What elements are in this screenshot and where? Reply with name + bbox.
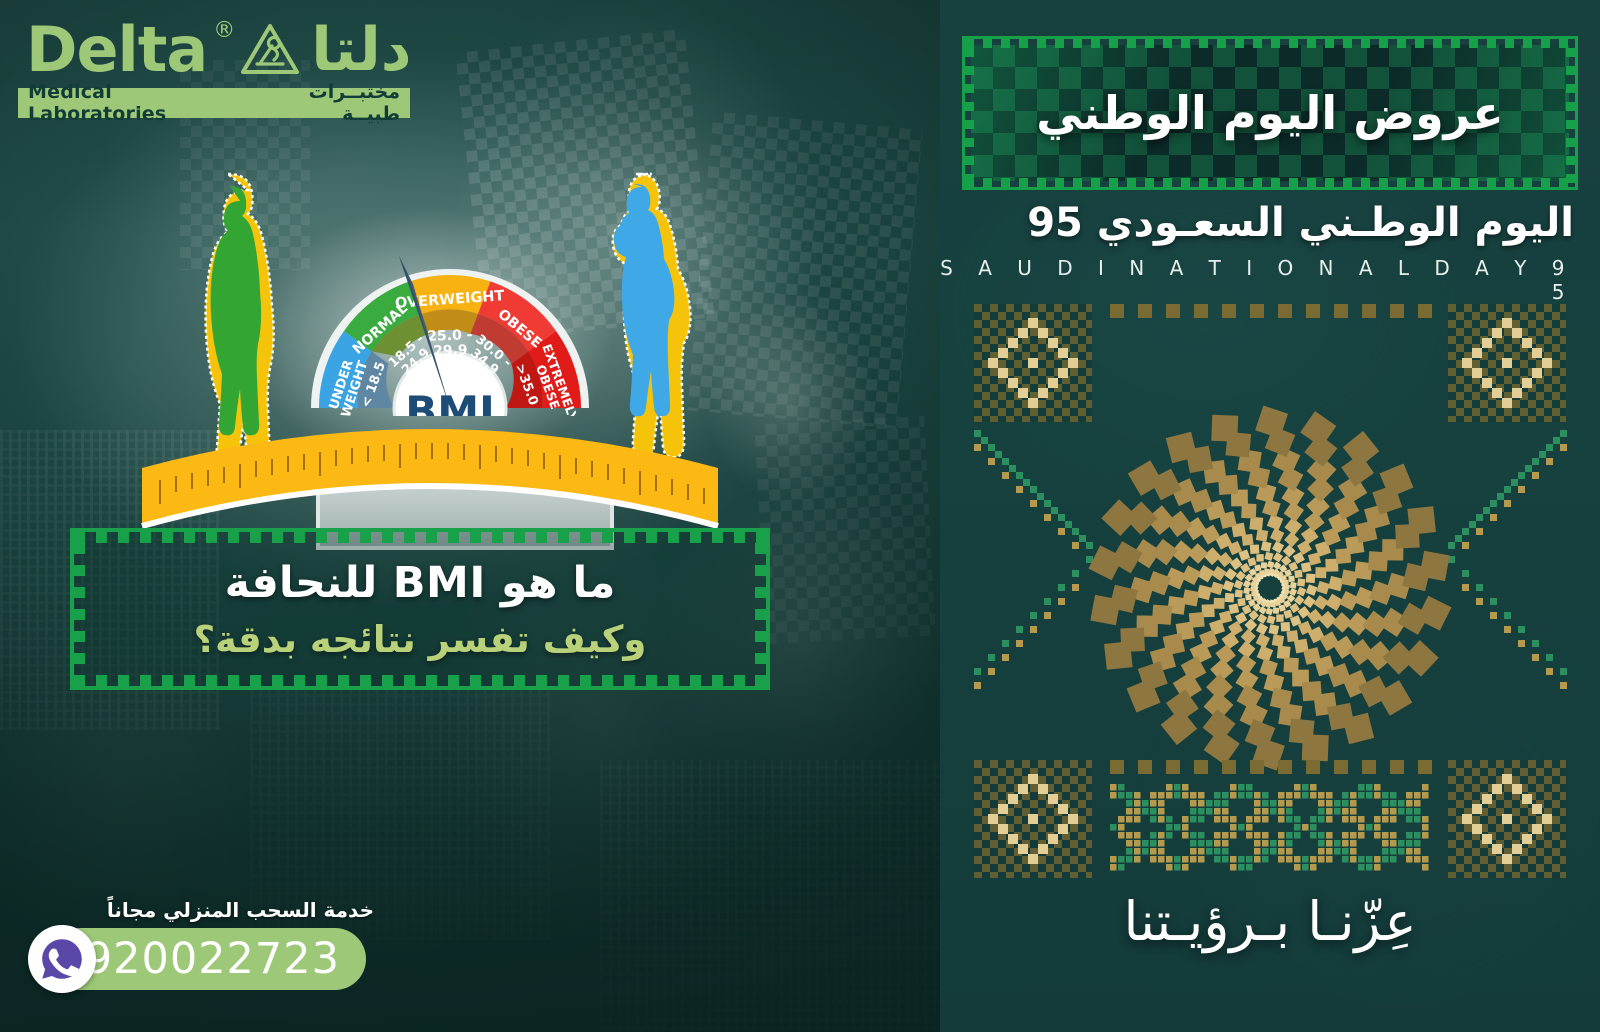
phone-pill[interactable]: 920022723 (50, 928, 366, 990)
headline-text: ما هو BMI للنحافة وكيف تفسر نتائجه بدقة؟ (86, 544, 754, 674)
whatsapp-icon[interactable] (28, 925, 96, 993)
sadu-bottom-lattice (1110, 784, 1429, 871)
headline-line-2: وكيف تفسر نتائجه بدقة؟ (194, 618, 647, 661)
logo-tagline-bar: Medical Laboratories مختبــرات طبيــة (18, 88, 410, 118)
bmi-illustration: UNDERWEIGHT NORMAL OVERWEIGHT OBESE EXTR… (110, 150, 750, 530)
measuring-tape-base (140, 408, 720, 530)
registered-mark-icon: ® (213, 18, 235, 43)
national-day-banner: عروض اليوم الوطني (962, 36, 1578, 190)
logo-wordmark-row: Delta ® دلتا (18, 14, 418, 86)
stamp-border-left (74, 532, 85, 686)
logo-tagline-en: Medical Laboratories (28, 81, 249, 125)
headline-block: ما هو BMI للنحافة وكيف تفسر نتائجه بدقة؟ (70, 528, 770, 690)
poster-canvas: Delta ® دلتا Medical Laboratories مختبــ… (0, 0, 1600, 1032)
headline-line-1: ما هو BMI للنحافة (225, 558, 616, 608)
national-day-subtitle-ar: اليوم الوطـني السعـودي 95 (940, 200, 1574, 246)
national-day-subtitle-en: S A U D I N A T I O N A L D A Y 9 5 (940, 256, 1574, 304)
logo-text-ar: دلتا (311, 20, 411, 80)
contact-block[interactable]: خدمة السحب المنزلي مجاناً 920022723 (28, 898, 388, 1013)
left-panel: Delta ® دلتا Medical Laboratories مختبــ… (0, 0, 940, 1032)
brand-logo[interactable]: Delta ® دلتا Medical Laboratories مختبــ… (18, 14, 418, 126)
microscope-triangle-icon (239, 22, 301, 78)
sadu-side-strip-left (974, 430, 1093, 689)
banner-title: عروض اليوم الوطني (962, 36, 1578, 190)
right-panel: عروض اليوم الوطني اليوم الوطـني السعـودي… (940, 0, 1600, 1032)
sadu-side-strip-right (1448, 430, 1567, 689)
logo-tagline-ar: مختبــرات طبيــة (249, 81, 400, 125)
gauge-center-label: BMI (405, 387, 494, 416)
golden-rosette (1088, 406, 1451, 771)
logo-text-en: Delta (26, 19, 207, 81)
bmi-gauge: UNDERWEIGHT NORMAL OVERWEIGHT OBESE EXTR… (305, 236, 595, 416)
stamp-border-right (755, 532, 766, 686)
national-day-slogan: عِزّنـا بـرؤيـتنا (940, 890, 1600, 953)
sadu-top-band (1110, 304, 1432, 318)
sadu-pattern-grid (960, 298, 1580, 878)
phone-number[interactable]: 920022723 (85, 934, 340, 984)
home-service-note: خدمة السحب المنزلي مجاناً (28, 898, 388, 922)
